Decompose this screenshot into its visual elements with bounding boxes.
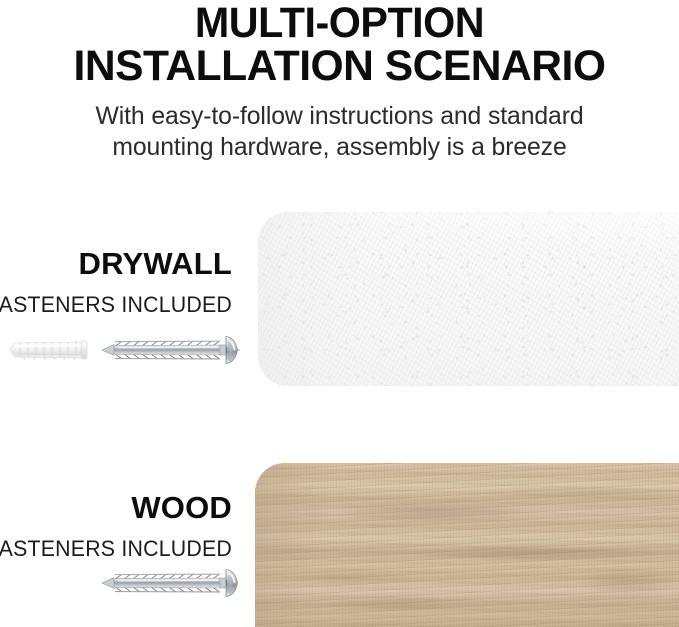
title-line-1: MULTI-OPTION — [14, 2, 666, 44]
wood-hardware-row — [96, 563, 246, 603]
material-name-drywall: DRYWALL — [0, 248, 232, 279]
drywall-label-group: DRYWALL FASTENERS INCLUDED — [0, 248, 232, 316]
material-name-wood: WOOD — [0, 492, 232, 523]
drywall-shading-layer — [258, 212, 679, 386]
header: MULTI-OPTION INSTALLATION SCENARIO With … — [0, 0, 679, 162]
page-subtitle: With easy-to-follow instructions and sta… — [0, 101, 679, 162]
fasteners-note-wood: FASTENERS INCLUDED — [0, 538, 232, 560]
drywall-hardware-row — [6, 330, 246, 370]
screw-icon — [96, 330, 246, 370]
wood-shading-layer — [255, 463, 679, 627]
subtitle-line-2: mounting hardware, assembly is a breeze — [3, 132, 675, 163]
wood-label-group: WOOD FASTENERS INCLUDED — [0, 492, 232, 560]
fasteners-note-drywall: FASTENERS INCLUDED — [0, 294, 232, 316]
screw-icon — [96, 563, 246, 603]
promotional-graphic: MULTI-OPTION INSTALLATION SCENARIO With … — [0, 0, 679, 627]
title-line-2: INSTALLATION SCENARIO — [3, 45, 675, 87]
wall-anchor-icon — [6, 330, 94, 370]
wood-grain-swatch — [255, 463, 679, 627]
subtitle-line-1: With easy-to-follow instructions and sta… — [3, 101, 675, 132]
drywall-texture-swatch — [258, 212, 679, 386]
page-title: MULTI-OPTION INSTALLATION SCENARIO — [0, 0, 679, 87]
